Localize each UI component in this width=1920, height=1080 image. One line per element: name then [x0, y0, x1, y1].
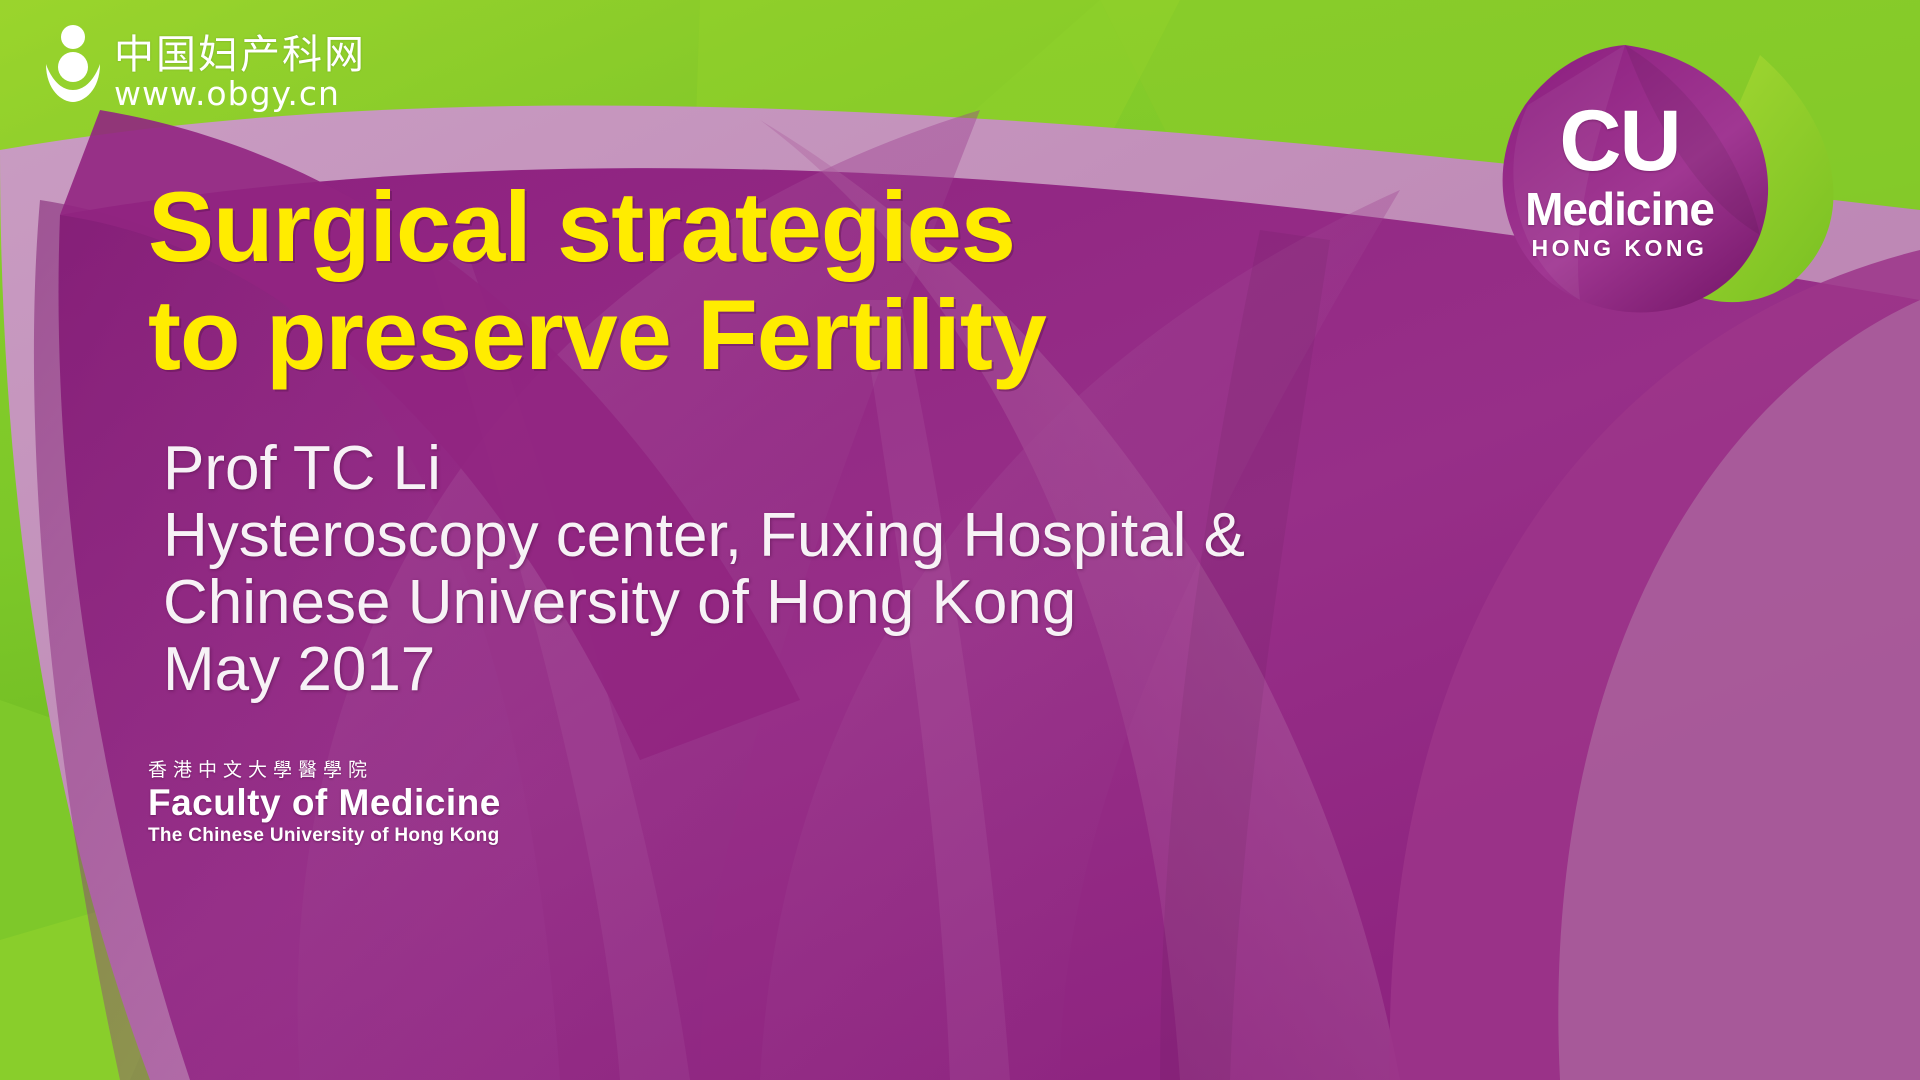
obgy-watermark: 中国妇产科网 www.obgy.cn [42, 24, 366, 112]
faculty-of-medicine-logo: 香港中文大學醫學院 Faculty of Medicine The Chines… [148, 758, 501, 847]
slide-title-line-1: Surgical strategies [148, 173, 1468, 281]
presenter-name: Prof TC Li [163, 435, 1583, 502]
cu-logo-location: HONG KONG [1487, 236, 1752, 260]
slide-subtitle: Prof TC Li Hysteroscopy center, Fuxing H… [163, 435, 1583, 703]
affiliation-line-2: Chinese University of Hong Kong [163, 569, 1583, 636]
watermark-url-label: www.obgy.cn [114, 76, 366, 112]
cu-medicine-logo: CU Medicine HONG KONG [1487, 20, 1752, 295]
cu-logo-word: Medicine [1487, 186, 1752, 232]
watermark-chinese-label: 中国妇产科网 [114, 34, 366, 76]
cu-logo-initials: CU [1487, 98, 1752, 184]
faculty-name-label: Faculty of Medicine [148, 782, 501, 824]
faculty-chinese-label: 香港中文大學醫學院 [148, 758, 501, 782]
presentation-date: May 2017 [163, 636, 1583, 703]
presentation-slide: 中国妇产科网 www.obgy.cn CU Medicine HONG KONG… [0, 0, 1920, 1080]
affiliation-line-1: Hysteroscopy center, Fuxing Hospital & [163, 502, 1583, 569]
faculty-university-label: The Chinese University of Hong Kong [148, 824, 501, 847]
mother-and-baby-icon [42, 24, 104, 102]
slide-title: Surgical strategies to preserve Fertilit… [148, 173, 1468, 389]
slide-title-line-2: to preserve Fertility [148, 281, 1468, 389]
